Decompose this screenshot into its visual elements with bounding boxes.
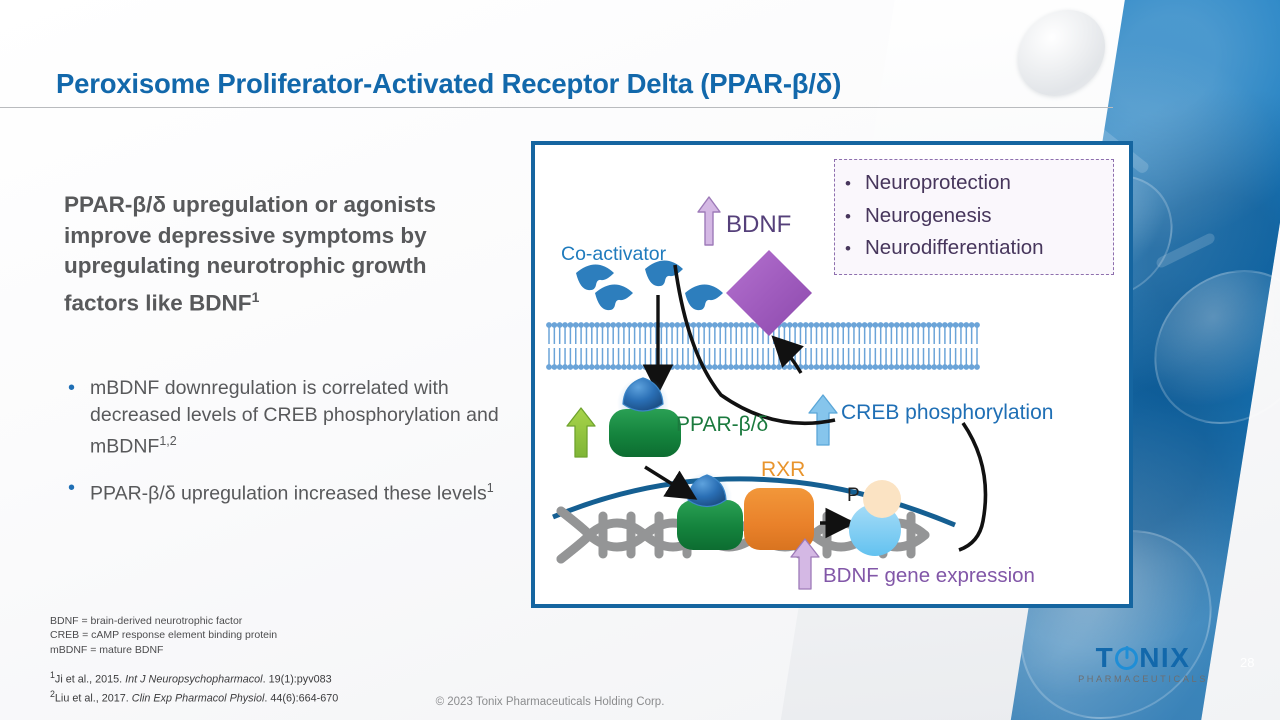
- callout-item: • Neuroprotection: [845, 167, 1103, 200]
- callout-item-label: Neurogenesis: [865, 200, 992, 232]
- creb-to-dna-curve: [959, 423, 986, 550]
- abbreviation-list: BDNF = brain-derived neurotrophic factor…: [50, 614, 277, 657]
- list-item-superscript: 1,2: [159, 434, 176, 448]
- list-item: • mBDNF downregulation is correlated wit…: [64, 375, 504, 460]
- label-ppar-beta-delta: PPAR-β/δ: [676, 413, 768, 437]
- deco-droplet-icon: [1012, 10, 1112, 96]
- bullet-marker-icon: •: [64, 475, 90, 507]
- outcomes-callout-box: • Neuroprotection • Neurogenesis • Neuro…: [834, 159, 1114, 275]
- tonix-logo: T NIX PHARMACEUTICALS: [1073, 643, 1213, 684]
- reference-journal: Int J Neuropsychopharmacol: [125, 674, 262, 686]
- bullet-marker-icon: •: [845, 168, 865, 200]
- bullet-marker-icon: •: [845, 201, 865, 233]
- abbreviation-line: CREB = cAMP response element binding pro…: [50, 628, 277, 642]
- power-symbol-icon: [1115, 647, 1138, 670]
- reference-citation: . 19(1):pyv083: [263, 674, 332, 686]
- logo-letters-nix: NIX: [1139, 643, 1190, 673]
- diagram-canvas: • Neuroprotection • Neurogenesis • Neuro…: [535, 145, 1129, 604]
- label-bdnf-gene-expression: BDNF gene expression: [823, 564, 1035, 588]
- list-item-superscript: 1: [487, 481, 494, 495]
- ppar-receptor-cytoplasm: [609, 377, 681, 457]
- list-item: • PPAR-β/δ upregulation increased these …: [64, 475, 504, 507]
- label-bdnf: BDNF: [726, 211, 791, 239]
- title-divider: [0, 107, 1113, 108]
- callout-item-label: Neurodifferentiation: [865, 232, 1044, 264]
- deco-bubble-icon: [1143, 270, 1280, 424]
- label-rxr: RXR: [761, 458, 805, 482]
- list-item-text: PPAR-β/δ upregulation increased these le…: [90, 475, 504, 507]
- logo-letter-t: T: [1096, 643, 1115, 673]
- reference-line: 1Ji et al., 2015. Int J Neuropsychopharm…: [50, 668, 338, 687]
- list-item-text: mBDNF downregulation is correlated with …: [90, 375, 504, 460]
- callout-item: • Neurogenesis: [845, 200, 1103, 233]
- callout-item: • Neurodifferentiation: [845, 232, 1103, 265]
- callout-item-label: Neuroprotection: [865, 167, 1011, 199]
- bullet-list: • mBDNF downregulation is correlated wit…: [64, 375, 504, 522]
- bdnf-up-arrow-icon: [698, 197, 720, 245]
- label-co-activator: Co-activator: [561, 243, 666, 266]
- slide-root: Peroxisome Proliferator-Activated Recept…: [0, 0, 1280, 720]
- ppar-receptor-nucleus: [677, 472, 743, 550]
- reference-author: Ji et al., 2015.: [55, 674, 125, 686]
- logo-tagline: PHARMACEUTICALS: [1073, 674, 1213, 684]
- page-number: 28: [1240, 655, 1254, 670]
- ppar-upregulation-arrow-icon: [567, 408, 595, 457]
- lead-paragraph-superscript: 1: [252, 289, 260, 305]
- lead-paragraph-text: PPAR-β/δ upregulation or agonists improv…: [64, 192, 436, 315]
- lead-paragraph: PPAR-β/δ upregulation or agonists improv…: [64, 190, 494, 319]
- abbreviation-line: mBDNF = mature BDNF: [50, 643, 277, 657]
- copyright-notice: © 2023 Tonix Pharmaceuticals Holding Cor…: [0, 696, 1100, 708]
- label-phosphate-group: P: [847, 485, 860, 507]
- bullet-marker-icon: •: [845, 233, 865, 265]
- co-activator-molecules: [576, 261, 723, 311]
- abbreviation-line: BDNF = brain-derived neurotrophic factor: [50, 614, 277, 628]
- label-creb-phosphorylation: CREB phosphorylation: [841, 401, 1053, 425]
- mechanism-diagram-panel: • Neuroprotection • Neurogenesis • Neuro…: [531, 141, 1133, 608]
- list-item-body: mBDNF downregulation is correlated with …: [90, 377, 499, 458]
- page-title: Peroxisome Proliferator-Activated Recept…: [56, 68, 841, 100]
- list-item-body: PPAR-β/δ upregulation increased these le…: [90, 483, 487, 505]
- logo-wordmark: T NIX: [1073, 643, 1213, 673]
- bullet-marker-icon: •: [64, 375, 90, 460]
